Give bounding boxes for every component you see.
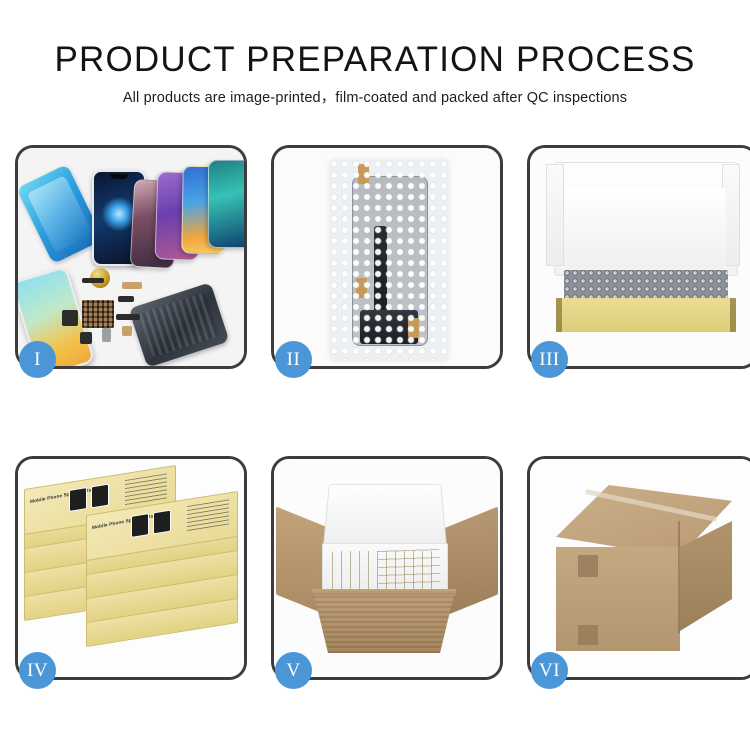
step-badge-4: IV <box>19 652 56 689</box>
box-stack-group: Mobile Phone Spare Parts Mobile Phone Sp… <box>24 477 244 669</box>
box-spec-lines-icon <box>125 473 167 506</box>
step-badge-5: V <box>275 652 312 689</box>
carton-body-icon <box>314 595 454 653</box>
part-flex-icon <box>118 296 134 302</box>
yellow-box-tray-icon <box>556 298 736 332</box>
connector-block-icon <box>360 310 418 344</box>
step-3-illustration <box>530 148 750 366</box>
step-panel-4: Mobile Phone Spare Parts Mobile Phone Sp… <box>15 456 247 680</box>
step-6-illustration <box>530 459 750 677</box>
product-preparation-infographic: PRODUCT PREPARATION PROCESS All products… <box>0 0 750 750</box>
part-cable-icon <box>116 314 140 320</box>
carton-tape-patch-icon <box>578 555 598 577</box>
process-steps-grid: Mobile Phone Spare Parts Mobile Phone Sp… <box>15 145 735 680</box>
phone-teal-icon <box>208 160 244 248</box>
tape-tab-mid-icon <box>356 278 367 298</box>
step-badge-1: I <box>19 341 56 378</box>
box-screen-image-icon <box>131 513 149 538</box>
foam-sheet-icon <box>564 188 726 268</box>
part-bracket-icon <box>62 310 78 326</box>
carton-edge-icon <box>678 521 680 633</box>
step-1-illustration <box>18 148 244 366</box>
box-screen-image-icon <box>91 484 109 509</box>
step-4-illustration: Mobile Phone Spare Parts Mobile Phone Sp… <box>18 459 244 677</box>
step-panel-2 <box>271 145 503 369</box>
part-connector-icon <box>122 282 142 289</box>
box-spec-lines-icon <box>187 499 229 532</box>
grid-chip-icon <box>82 300 114 328</box>
box-screen-image-icon <box>69 487 87 512</box>
step-2-illustration <box>274 148 500 366</box>
phone-lineup-group <box>130 158 244 270</box>
step-badge-3: III <box>531 341 568 378</box>
step-badge-6: VI <box>531 652 568 689</box>
step-5-illustration <box>274 459 500 677</box>
step-badge-2: II <box>275 341 312 378</box>
step-panel-6 <box>527 456 750 680</box>
part-metal-icon <box>102 328 111 342</box>
step-panel-1 <box>15 145 247 369</box>
box-flap-left-icon <box>546 164 564 266</box>
sealed-carton-front-icon <box>556 547 680 651</box>
page-title: PRODUCT PREPARATION PROCESS <box>0 40 750 80</box>
wrapped-screen-icon <box>352 176 428 346</box>
tape-tab-bottom-icon <box>408 318 419 338</box>
bubble-wrap-contents-icon <box>564 270 728 300</box>
carton-tape-patch-icon <box>578 625 598 645</box>
tape-tab-top-icon <box>358 164 369 184</box>
flex-cable-icon <box>374 226 387 344</box>
step-panel-5 <box>271 456 503 680</box>
part-strip-icon <box>82 278 104 283</box>
bubble-wrap-icon <box>330 160 448 360</box>
part-camera-icon <box>80 332 92 344</box>
part-screw-icon <box>122 326 132 336</box>
page-subtitle: All products are image-printed，film-coat… <box>0 88 750 108</box>
box-screen-image-icon <box>153 510 171 535</box>
step-panel-3 <box>527 145 750 369</box>
yellow-boxes-bundle-icon <box>377 546 440 592</box>
phone-chassis-icon <box>129 282 230 366</box>
styrofoam-lid-icon <box>323 484 447 550</box>
